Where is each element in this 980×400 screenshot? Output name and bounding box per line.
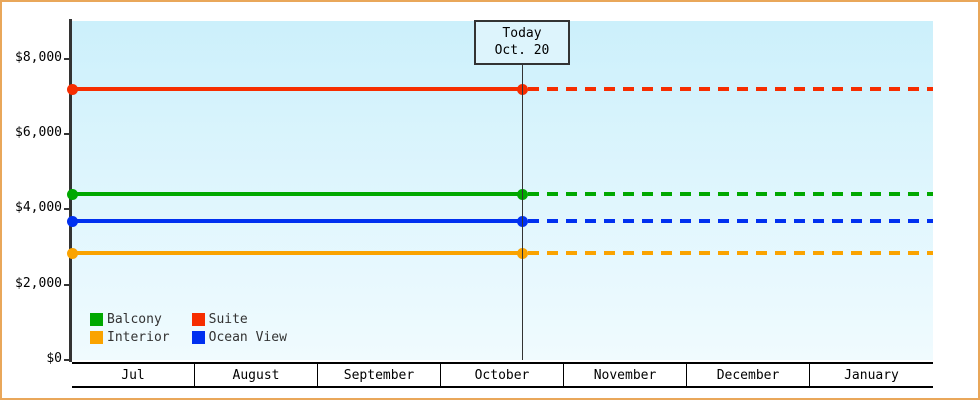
today-annotation: Today Oct. 20 [474, 20, 570, 65]
today-label-line2: Oct. 20 [486, 42, 558, 59]
y-axis-tick-label: $4,000 [2, 200, 62, 215]
x-axis-month-cell[interactable]: Jul [72, 364, 195, 386]
legend-label: Suite [209, 312, 248, 327]
y-axis-tick-label: $2,000 [2, 276, 62, 291]
legend-swatch-icon [90, 313, 103, 326]
y-axis-tick [64, 284, 71, 286]
y-axis-tick-label: $0 [2, 351, 62, 366]
chart-legend: BalconySuiteInteriorOcean View [90, 312, 287, 345]
series-line-forecast [528, 251, 933, 255]
series-point [67, 248, 78, 259]
legend-label: Ocean View [209, 330, 287, 345]
legend-item[interactable]: Balcony [90, 312, 170, 327]
price-trend-chart: $0$2,000$4,000$6,000$8,000 Today Oct. 20… [0, 0, 980, 400]
today-line [522, 21, 523, 360]
x-axis-month-cell[interactable]: October [441, 364, 564, 386]
legend-label: Balcony [107, 312, 162, 327]
y-axis-tick [64, 359, 71, 361]
series-point [67, 189, 78, 200]
legend-swatch-icon [192, 313, 205, 326]
x-axis-month-cell[interactable]: November [564, 364, 687, 386]
today-label-line1: Today [486, 25, 558, 42]
series-line-forecast [528, 219, 933, 223]
plot-area [72, 21, 933, 360]
series-line-actual [72, 219, 522, 223]
x-axis-month-cell[interactable]: December [687, 364, 810, 386]
legend-swatch-icon [192, 331, 205, 344]
y-axis-tick-label: $6,000 [2, 125, 62, 140]
y-axis-tick [64, 208, 71, 210]
series-line-actual [72, 251, 522, 255]
x-axis-month-cell[interactable]: September [318, 364, 441, 386]
legend-swatch-icon [90, 331, 103, 344]
legend-item[interactable]: Interior [90, 330, 170, 345]
series-point [67, 216, 78, 227]
x-axis-month-cell[interactable]: August [195, 364, 318, 386]
series-line-forecast [528, 192, 933, 196]
legend-item[interactable]: Suite [192, 312, 287, 327]
y-axis-tick [64, 133, 71, 135]
x-axis-month-cell[interactable]: January [810, 364, 933, 386]
legend-label: Interior [107, 330, 170, 345]
series-point [67, 84, 78, 95]
x-axis-month-band: JulAugustSeptemberOctoberNovemberDecembe… [72, 362, 933, 388]
y-axis-tick-label: $8,000 [2, 50, 62, 65]
legend-item[interactable]: Ocean View [192, 330, 287, 345]
y-axis-tick [64, 58, 71, 60]
series-line-forecast [528, 87, 933, 91]
series-line-actual [72, 192, 522, 196]
series-line-actual [72, 87, 522, 91]
